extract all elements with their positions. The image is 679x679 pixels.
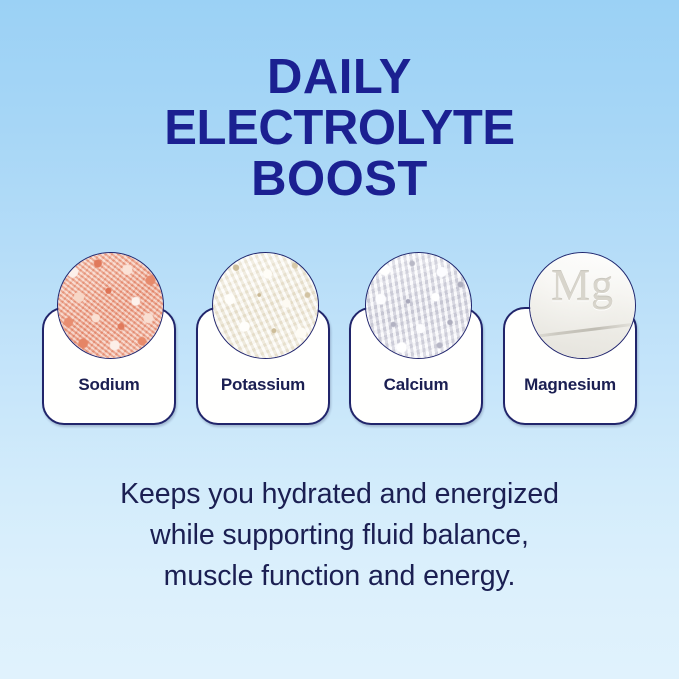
benefit-description-line-1: Keeps you hydrated and energized xyxy=(0,474,679,515)
magnesium-tablet-swatch: Mg xyxy=(529,252,636,359)
ingredient-card-row: Sodium Potassium Calcium Magnesium Mg xyxy=(42,252,638,430)
page-title-line-3: BOOST xyxy=(0,154,679,205)
potassium-texture xyxy=(213,253,318,358)
potassium-powder-swatch xyxy=(212,252,319,359)
page-title: DAILY ELECTROLYTE BOOST xyxy=(0,52,679,205)
page-title-line-2: ELECTROLYTE xyxy=(0,103,679,154)
tablet-imprint-text: Mg xyxy=(530,264,635,308)
benefit-description-line-3: muscle function and energy. xyxy=(0,556,679,597)
ingredient-card-label: Potassium xyxy=(198,375,328,395)
tablet-seam-line xyxy=(529,321,636,339)
ingredient-card-label: Sodium xyxy=(44,375,174,395)
salt-texture xyxy=(58,253,163,358)
ingredient-card-label: Calcium xyxy=(351,375,481,395)
page-title-line-1: DAILY xyxy=(0,52,679,103)
calcium-texture xyxy=(366,253,471,358)
pink-himalayan-salt-swatch xyxy=(57,252,164,359)
benefit-description: Keeps you hydrated and energized while s… xyxy=(0,474,679,597)
tablet-texture: Mg xyxy=(530,253,635,358)
calcium-powder-swatch xyxy=(365,252,472,359)
benefit-description-line-2: while supporting fluid balance, xyxy=(0,515,679,556)
ingredient-card-label: Magnesium xyxy=(505,375,635,395)
electrolyte-promo-poster: DAILY ELECTROLYTE BOOST Sodium Potassium… xyxy=(0,0,679,679)
